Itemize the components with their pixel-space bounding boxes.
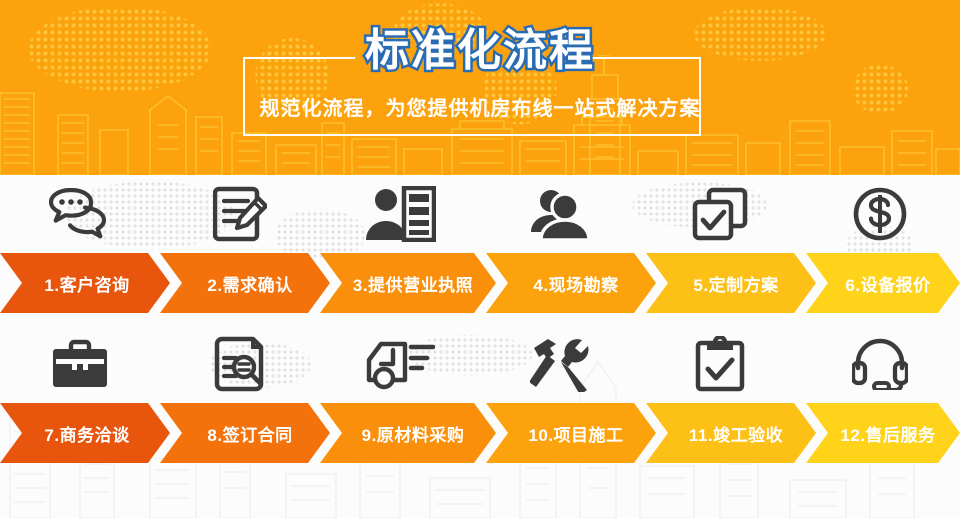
step-arrow-2[interactable]: 2.需求确认 <box>160 253 330 313</box>
headset-icon <box>852 338 908 390</box>
contract-search-icon <box>213 336 267 392</box>
process-body: 1.客户咨询 2.需求确认 3.提供营业执照 4.现场勘察 5.定制方案 6.设… <box>0 175 960 518</box>
process-infographic-page: 标准化流程 规范化流程，为您提供机房布线一站式解决方案 <box>0 0 960 518</box>
page-subtitle: 规范化流程，为您提供机房布线一站式解决方案 <box>0 92 960 121</box>
step-arrow-5[interactable]: 5.定制方案 <box>646 253 816 313</box>
step-icon-11 <box>640 325 800 403</box>
header-banner: 标准化流程 规范化流程，为您提供机房布线一站式解决方案 <box>0 0 960 175</box>
briefcase-icon <box>51 339 109 389</box>
chat-bubbles-icon <box>49 188 111 240</box>
step-icon-3 <box>320 175 480 253</box>
document-pencil-icon <box>213 186 267 242</box>
step-label-6: 6.设备报价 <box>806 271 960 296</box>
step-icon-1 <box>0 175 160 253</box>
step-label-10: 10.项目施工 <box>486 421 656 446</box>
step-label-11: 11.竣工验收 <box>646 421 816 446</box>
process-row-2: 7.商务洽谈 8.签订合同 9.原材料采购 10.项目施工 11.竣工验收 12… <box>0 325 960 475</box>
step-label-2: 2.需求确认 <box>160 271 330 296</box>
step-icon-7 <box>0 325 160 403</box>
step-icon-4 <box>480 175 640 253</box>
step-label-4: 4.现场勘察 <box>486 271 656 296</box>
page-title: 标准化流程 <box>0 29 960 73</box>
step-arrow-9[interactable]: 9.原材料采购 <box>320 403 496 463</box>
process-row-1-icons <box>0 175 960 253</box>
step-arrow-7[interactable]: 7.商务洽谈 <box>0 403 170 463</box>
clipboard-check-icon <box>695 336 745 392</box>
step-label-3: 3.提供营业执照 <box>320 271 496 296</box>
checked-squares-icon <box>691 186 749 242</box>
step-icon-2 <box>160 175 320 253</box>
step-arrow-6[interactable]: 6.设备报价 <box>806 253 960 313</box>
hammer-wrench-icon <box>530 336 590 392</box>
step-label-7: 7.商务洽谈 <box>0 421 170 446</box>
person-license-icon <box>364 186 436 242</box>
step-label-8: 8.签订合同 <box>160 421 330 446</box>
step-label-9: 9.原材料采购 <box>320 421 496 446</box>
delivery-truck-icon <box>365 338 435 390</box>
step-icon-12 <box>800 325 960 403</box>
process-row-1-arrows: 1.客户咨询 2.需求确认 3.提供营业执照 4.现场勘察 5.定制方案 6.设… <box>0 253 960 313</box>
step-arrow-10[interactable]: 10.项目施工 <box>486 403 656 463</box>
step-arrow-11[interactable]: 11.竣工验收 <box>646 403 816 463</box>
dollar-circle-icon <box>853 187 907 241</box>
step-arrow-12[interactable]: 12.售后服务 <box>806 403 960 463</box>
step-icon-10 <box>480 325 640 403</box>
step-arrow-4[interactable]: 4.现场勘察 <box>486 253 656 313</box>
step-arrow-8[interactable]: 8.签订合同 <box>160 403 330 463</box>
process-row-2-arrows: 7.商务洽谈 8.签订合同 9.原材料采购 10.项目施工 11.竣工验收 12… <box>0 403 960 463</box>
step-label-12: 12.售后服务 <box>806 421 960 446</box>
process-row-2-icons <box>0 325 960 403</box>
step-arrow-3[interactable]: 3.提供营业执照 <box>320 253 496 313</box>
step-icon-8 <box>160 325 320 403</box>
step-icon-9 <box>320 325 480 403</box>
step-icon-6 <box>800 175 960 253</box>
process-row-1: 1.客户咨询 2.需求确认 3.提供营业执照 4.现场勘察 5.定制方案 6.设… <box>0 175 960 325</box>
step-icon-5 <box>640 175 800 253</box>
step-label-5: 5.定制方案 <box>646 271 816 296</box>
step-label-1: 1.客户咨询 <box>0 271 170 296</box>
step-arrow-1[interactable]: 1.客户咨询 <box>0 253 170 313</box>
two-people-icon <box>529 188 591 240</box>
